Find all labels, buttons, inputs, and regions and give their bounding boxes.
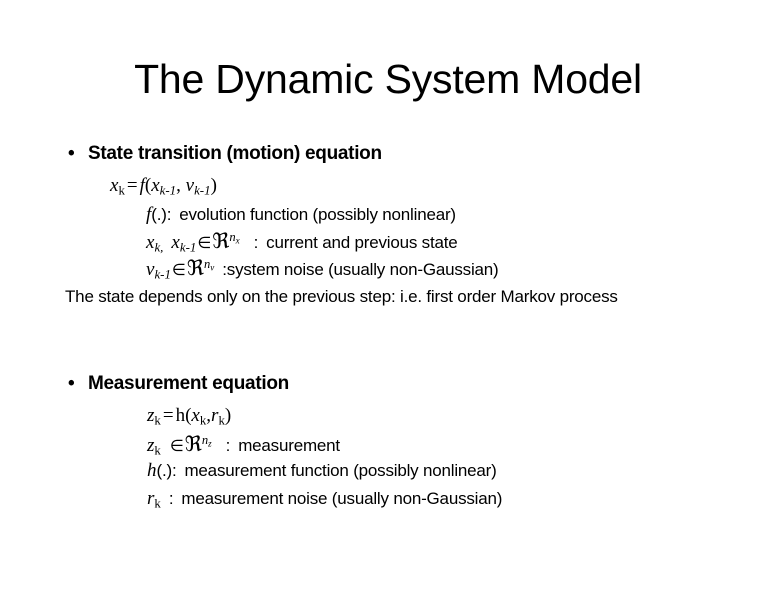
- measurement-noise-colon: :: [169, 489, 174, 508]
- definition-measurement-vector: zk∈ℜnz:measurement: [147, 434, 340, 458]
- markov-process-note: The state depends only on the previous s…: [65, 288, 618, 305]
- state-vars-expression: xk,xk-1∈ℜnx: [146, 232, 240, 253]
- bullet-label-measurement: Measurement equation: [88, 374, 289, 393]
- bullet-label-state-transition: State transition (motion) equation: [88, 144, 382, 163]
- bullet-dot-icon: •: [68, 374, 74, 393]
- eq2-arg1-var: x: [191, 405, 199, 426]
- definition-measurement-noise: rk:measurement noise (usually non-Gaussi…: [147, 489, 502, 511]
- definition-evolution-function: f(.):evolution function (possibly nonlin…: [146, 205, 456, 224]
- eq1-close-paren: ): [211, 175, 217, 196]
- noise-dim-sup: nv: [204, 257, 214, 271]
- definition-measurement-function: h(.):measurement function (possibly nonl…: [147, 461, 497, 480]
- definition-system-noise-text: system noise (usually non-Gaussian): [227, 260, 499, 279]
- definition-evolution-function-text: evolution function (possibly nonlinear): [179, 205, 456, 224]
- bullet-dot-icon: •: [68, 144, 74, 163]
- eq2-lhs-sub: k: [154, 413, 160, 428]
- real-numbers-icon: ℜ: [185, 432, 202, 456]
- eq2-close-paren: ): [225, 405, 231, 426]
- real-numbers-icon: ℜ: [212, 229, 229, 253]
- definition-state-vectors-text: current and previous state: [266, 233, 457, 252]
- h-symbol-suffix: (.):: [157, 461, 177, 480]
- state-dim-sub: x: [236, 236, 240, 246]
- measurement-colon: :: [226, 436, 231, 455]
- equation-measurement: zk=h(xk,rk): [147, 406, 231, 428]
- measurement-var-sub: k: [154, 443, 160, 458]
- element-of-icon: ∈: [196, 233, 212, 252]
- measurement-noise-var-expression: rk: [147, 488, 161, 509]
- state-var2: x: [171, 232, 179, 253]
- measurement-var-expression: zk∈ℜnz: [147, 435, 212, 456]
- noise-dim-sub: v: [210, 263, 214, 273]
- h-symbol: h: [147, 460, 157, 481]
- state-var1-sub: k,: [154, 240, 163, 255]
- definition-measurement-function-text: measurement function (possibly nonlinear…: [184, 461, 496, 480]
- real-numbers-icon: ℜ: [187, 256, 204, 280]
- definition-measurement-noise-text: measurement noise (usually non-Gaussian): [181, 489, 502, 508]
- element-of-icon: ∈: [169, 436, 185, 455]
- measurement-dim-sup: nz: [202, 433, 212, 447]
- eq1-arg2-var: v: [186, 175, 194, 196]
- eq1-lhs-sub: k: [118, 183, 124, 198]
- noise-var-expression: vk-1∈ℜnv: [146, 259, 214, 280]
- noise-var-sub: k-1: [154, 267, 170, 282]
- state-dim-sup: nx: [229, 230, 239, 244]
- slide-canvas: The Dynamic System Model • State transit…: [0, 0, 776, 600]
- measurement-dim-sub: z: [208, 439, 212, 449]
- definition-state-vectors: xk,xk-1∈ℜnx:current and previous state: [146, 231, 458, 255]
- eq1-arg2-sub: k-1: [194, 183, 210, 198]
- definition-measurement-vector-text: measurement: [238, 436, 340, 455]
- state-colon: :: [254, 233, 259, 252]
- f-symbol-suffix: (.):: [151, 205, 171, 224]
- element-of-icon: ∈: [171, 260, 187, 279]
- measurement-noise-var-sub: k: [154, 496, 160, 511]
- eq2-func: h: [176, 405, 186, 426]
- state-var2-sub: k-1: [180, 240, 196, 255]
- equation-state-transition: xk=f(xk-1, vk-1): [110, 176, 217, 198]
- definition-system-noise: vk-1∈ℜnv:system noise (usually non-Gauss…: [146, 258, 499, 282]
- page-title: The Dynamic System Model: [0, 58, 776, 101]
- eq1-equals: =: [125, 175, 140, 196]
- eq1-comma: ,: [176, 175, 186, 196]
- eq2-equals: =: [161, 405, 176, 426]
- eq1-arg1-sub: k-1: [160, 183, 176, 198]
- eq1-arg1-var: x: [151, 175, 159, 196]
